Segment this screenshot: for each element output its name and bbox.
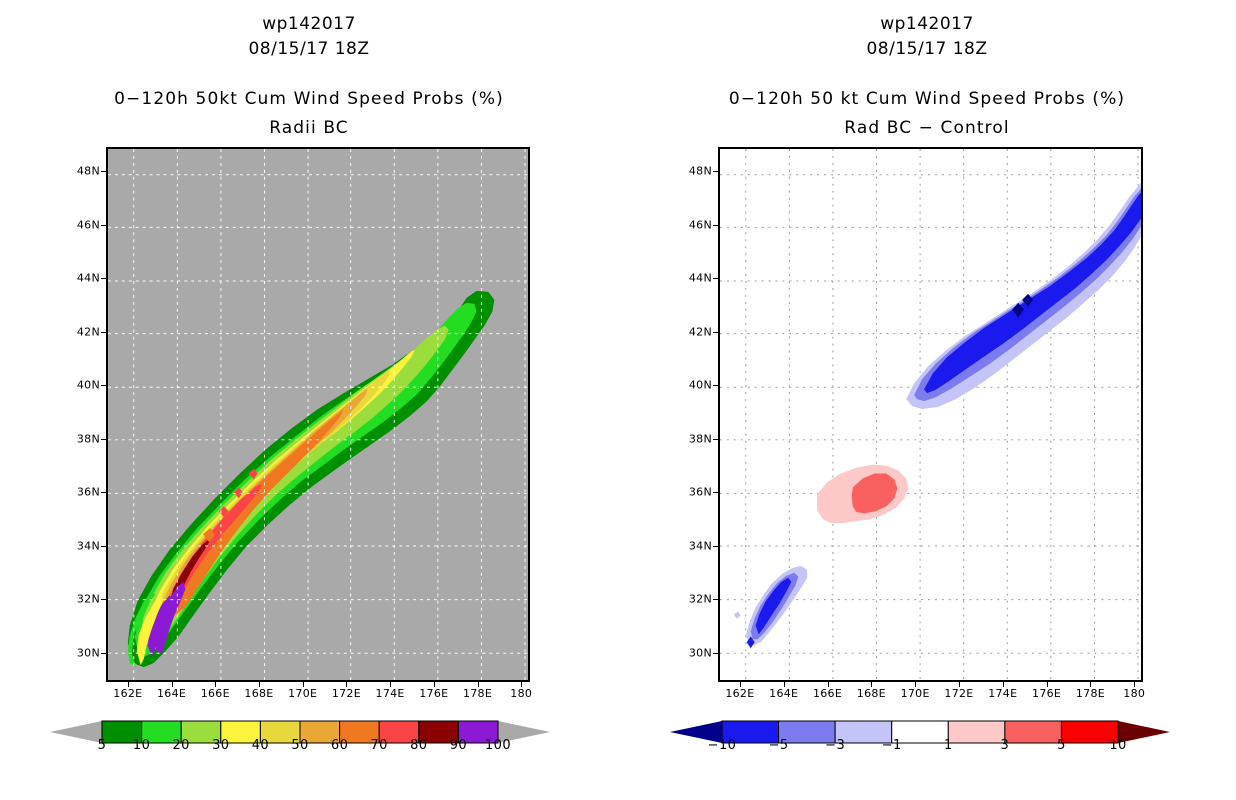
y-tick-label-left: 40N xyxy=(77,379,100,392)
x-tick-label-left: 164E xyxy=(157,687,186,700)
x-tick-label-left: 180 xyxy=(510,687,532,700)
x-tick-mark xyxy=(740,682,741,687)
y-tick-mark xyxy=(101,599,106,600)
y-tick-label-right: 36N xyxy=(689,486,712,499)
y-axis-labels-left: 30N32N34N36N38N40N42N44N46N48N xyxy=(64,147,100,682)
colorbar-tick-label: −5 xyxy=(769,738,789,753)
y-tick-mark xyxy=(101,492,106,493)
y-tick-mark xyxy=(101,171,106,172)
colorbar-tick-label: 70 xyxy=(371,738,388,753)
x-tick-mark xyxy=(390,682,391,687)
x-tick-label-right: 170E xyxy=(901,687,930,700)
y-tick-label-left: 48N xyxy=(77,165,100,178)
x-tick-label-right: 164E xyxy=(769,687,798,700)
colorbar-tick-label: 10 xyxy=(1109,738,1126,753)
x-tick-label-right: 168E xyxy=(857,687,886,700)
x-tick-label-right: 176E xyxy=(1032,687,1061,700)
y-tick-mark xyxy=(101,278,106,279)
colorbar-tick-label: 30 xyxy=(212,738,229,753)
y-tick-label-right: 40N xyxy=(689,379,712,392)
y-tick-label-right: 34N xyxy=(689,539,712,552)
x-tick-mark xyxy=(434,682,435,687)
y-tick-mark xyxy=(101,332,106,333)
y-tick-mark xyxy=(713,439,718,440)
colorbar-tick-label: −10 xyxy=(708,738,737,753)
y-tick-label-right: 44N xyxy=(689,272,712,285)
y-tick-mark xyxy=(713,653,718,654)
y-tick-label-left: 32N xyxy=(77,593,100,606)
colorbar-tick-label: 1 xyxy=(944,738,953,753)
x-tick-mark xyxy=(259,682,260,687)
x-tick-mark xyxy=(346,682,347,687)
colorbar-tick-label: 50 xyxy=(291,738,308,753)
contour-bands xyxy=(128,291,495,667)
x-tick-mark xyxy=(871,682,872,687)
x-tick-label-right: 162E xyxy=(725,687,754,700)
x-tick-label-left: 166E xyxy=(201,687,230,700)
x-tick-label-left: 170E xyxy=(288,687,317,700)
y-tick-label-right: 32N xyxy=(689,593,712,606)
x-tick-label-left: 172E xyxy=(332,687,361,700)
colorbar-tick-label: −1 xyxy=(882,738,902,753)
difference-features xyxy=(734,183,1141,648)
y-tick-mark xyxy=(101,546,106,547)
colorbar-tick-label: 3 xyxy=(1001,738,1010,753)
plot-frame-right xyxy=(718,147,1143,682)
x-tick-mark xyxy=(521,682,522,687)
x-tick-mark xyxy=(784,682,785,687)
x-tick-label-left: 176E xyxy=(419,687,448,700)
y-tick-mark xyxy=(101,439,106,440)
x-tick-mark xyxy=(1090,682,1091,687)
x-tick-mark xyxy=(1047,682,1048,687)
y-tick-mark xyxy=(101,653,106,654)
y-axis-labels-right: 30N32N34N36N38N40N42N44N46N48N xyxy=(676,147,712,682)
x-tick-label-right: 172E xyxy=(944,687,973,700)
x-tick-mark xyxy=(1134,682,1135,687)
y-tick-mark xyxy=(713,171,718,172)
x-tick-label-right: 178E xyxy=(1076,687,1105,700)
x-tick-mark xyxy=(303,682,304,687)
colorbar-tick-label: 40 xyxy=(252,738,269,753)
y-tick-label-left: 44N xyxy=(77,272,100,285)
x-tick-label-left: 168E xyxy=(244,687,273,700)
x-tick-mark xyxy=(828,682,829,687)
y-axis-ticks-right xyxy=(718,147,719,682)
x-axis-labels-right: 162E164E166E168E170E172E174E176E178E180 xyxy=(718,687,1143,705)
plot-subtitle-left: Radii BC xyxy=(0,118,618,138)
y-tick-label-right: 30N xyxy=(689,646,712,659)
y-tick-label-left: 36N xyxy=(77,486,100,499)
y-tick-mark xyxy=(713,385,718,386)
y-tick-mark xyxy=(101,385,106,386)
y-tick-label-left: 34N xyxy=(77,539,100,552)
speckle-sw-faint xyxy=(734,612,741,619)
y-tick-label-left: 38N xyxy=(77,432,100,445)
y-tick-mark xyxy=(713,492,718,493)
colorbar-probability-labels: 5102030405060708090100 xyxy=(50,738,550,754)
x-tick-mark xyxy=(915,682,916,687)
x-tick-mark xyxy=(959,682,960,687)
colorbar-tick-label: 90 xyxy=(450,738,467,753)
y-tick-mark xyxy=(713,278,718,279)
colorbar-tick-label: −3 xyxy=(825,738,845,753)
panel-rad-bc-minus-control: wp142017 08/15/17 18Z 0−120h 50 kt Cum W… xyxy=(618,0,1236,800)
y-axis-ticks-left xyxy=(106,147,107,682)
y-tick-label-right: 48N xyxy=(689,165,712,178)
colorbar-tick-label: 100 xyxy=(485,738,511,753)
x-axis-ticks-right xyxy=(718,682,1143,688)
plot-frame-left xyxy=(106,147,530,682)
datetime-left: 08/15/17 18Z xyxy=(0,39,618,59)
y-tick-mark xyxy=(101,225,106,226)
datetime-right: 08/15/17 18Z xyxy=(618,39,1236,59)
colorbar-difference-labels: −10−5−3−113510 xyxy=(670,738,1170,754)
x-tick-mark xyxy=(172,682,173,687)
x-tick-label-right: 166E xyxy=(813,687,842,700)
y-tick-label-right: 38N xyxy=(689,432,712,445)
y-tick-label-left: 46N xyxy=(77,218,100,231)
x-tick-mark xyxy=(478,682,479,687)
plot-title-right: 0−120h 50 kt Cum Wind Speed Probs (%) xyxy=(618,89,1236,109)
y-tick-label-right: 46N xyxy=(689,218,712,231)
colorbar-tick-label: 20 xyxy=(173,738,190,753)
x-axis-ticks-left xyxy=(106,682,530,688)
storm-id-right: wp142017 xyxy=(618,14,1236,34)
x-tick-label-left: 162E xyxy=(113,687,142,700)
panel-radii-bc: wp142017 08/15/17 18Z 0−120h 50kt Cum Wi… xyxy=(0,0,618,800)
y-tick-label-left: 30N xyxy=(77,646,100,659)
x-axis-labels-left: 162E164E166E168E170E172E174E176E178E180 xyxy=(106,687,530,705)
x-tick-label-left: 178E xyxy=(463,687,492,700)
x-tick-mark xyxy=(215,682,216,687)
storm-id-left: wp142017 xyxy=(0,14,618,34)
difference-contour-map xyxy=(720,149,1141,680)
probability-contour-map xyxy=(108,149,528,680)
y-tick-label-left: 42N xyxy=(77,325,100,338)
colorbar-tick-label: 60 xyxy=(331,738,348,753)
x-tick-label-right: 174E xyxy=(988,687,1017,700)
y-tick-mark xyxy=(713,599,718,600)
x-tick-mark xyxy=(128,682,129,687)
colorbar-tick-label: 5 xyxy=(1057,738,1066,753)
y-tick-label-right: 42N xyxy=(689,325,712,338)
colorbar-tick-label: 80 xyxy=(410,738,427,753)
y-tick-mark xyxy=(713,225,718,226)
y-tick-mark xyxy=(713,332,718,333)
x-tick-label-right: 180 xyxy=(1123,687,1145,700)
x-tick-label-left: 174E xyxy=(376,687,405,700)
plot-subtitle-right: Rad BC − Control xyxy=(618,118,1236,138)
colorbar-tick-label: 5 xyxy=(98,738,107,753)
y-tick-mark xyxy=(713,546,718,547)
colorbar-tick-label: 10 xyxy=(133,738,150,753)
x-tick-mark xyxy=(1003,682,1004,687)
plot-title-left: 0−120h 50kt Cum Wind Speed Probs (%) xyxy=(0,89,618,109)
